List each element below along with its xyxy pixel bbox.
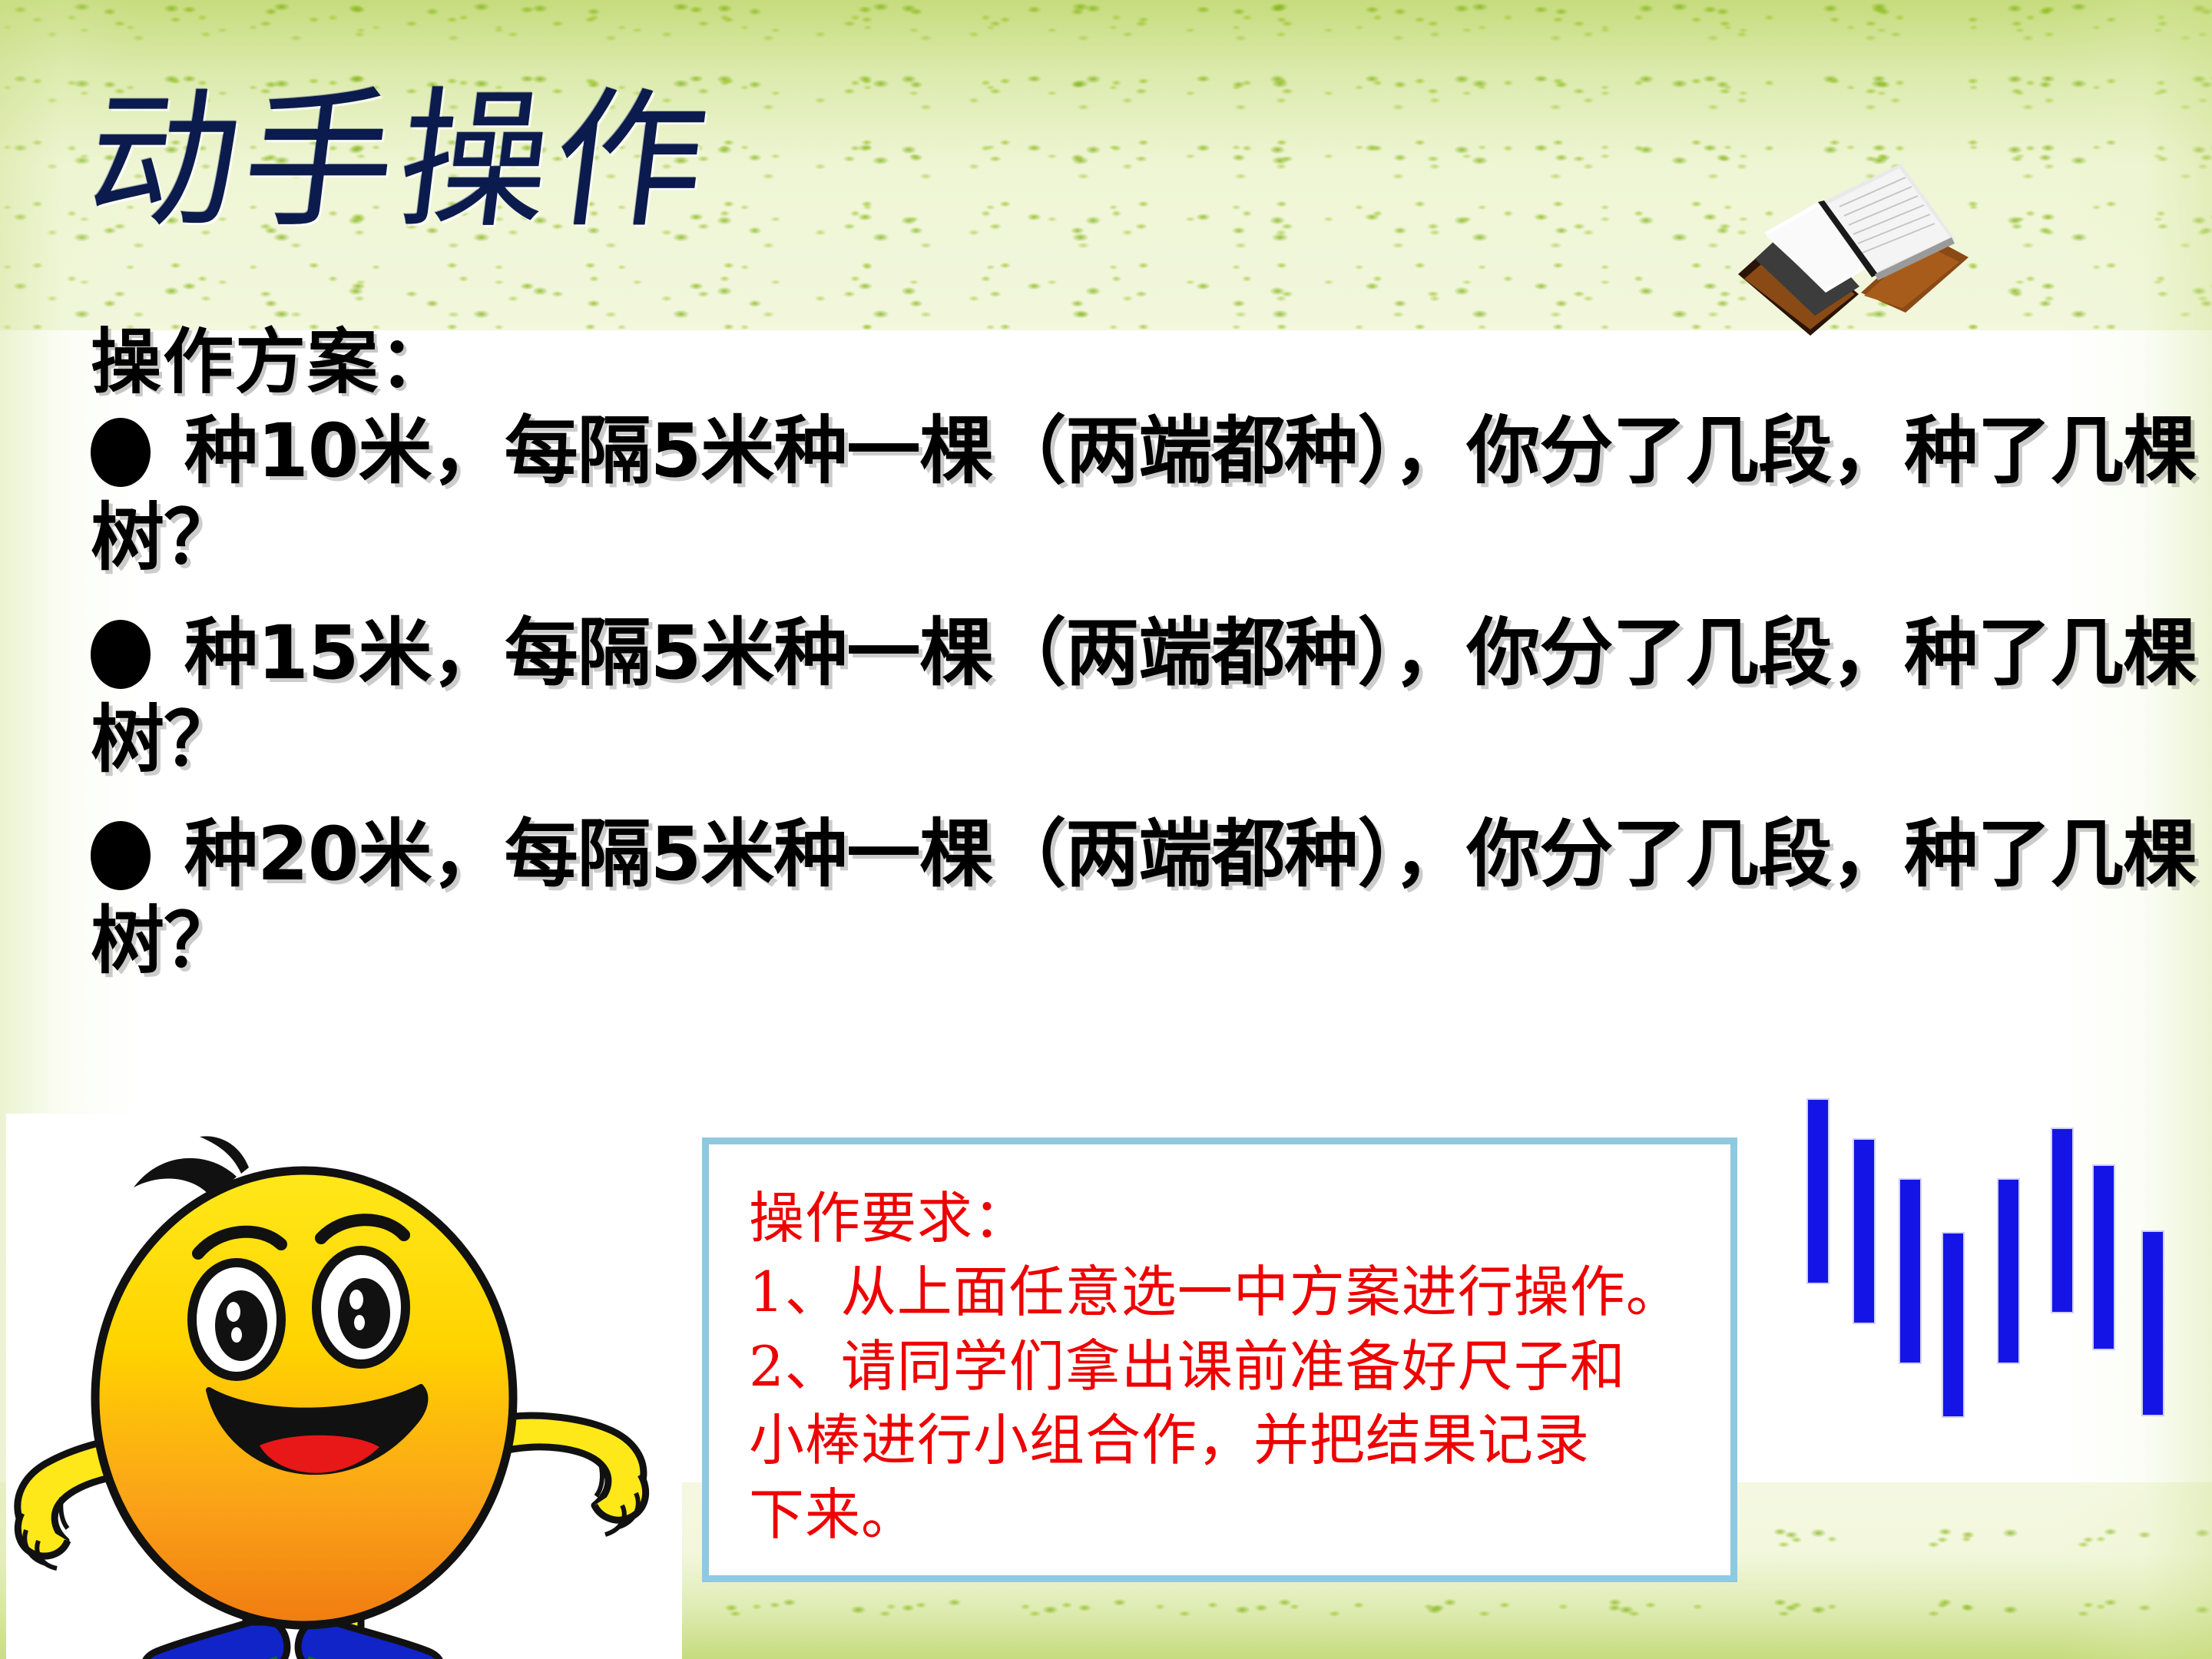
operation-requirements-box: 操作要求： 1、从上面任意选一中方案进行操作。 2、请同学们拿出课前准备好尺子和… [702,1137,1737,1582]
smiley-character-backdrop [6,1114,682,1659]
bullet-dot-icon [91,418,151,487]
stick-bar [2143,1232,2163,1415]
list-item: 种20米，每隔5米种一棵（两端都种），你分了几段，种了几棵树？ [91,811,2210,985]
stick-bar [1943,1233,1963,1416]
slide-title: 动手操作 [80,86,719,237]
scheme-text-block: 操作方案： 种10米，每隔5米种一棵（两端都种），你分了几段，种了几棵树？ 种1… [91,323,2210,1013]
requirements-heading: 操作要求： [749,1181,1707,1255]
list-item: 种15米，每隔5米种一棵（两端都种），你分了几段，种了几棵树？ [91,610,2210,784]
list-item-label: 种15米，每隔5米种一棵（两端都种），你分了几段，种了几棵树？ [91,610,2196,783]
scheme-heading: 操作方案： [91,323,2210,402]
smiley-character-icon [6,1114,682,1659]
list-item-label: 种20米，每隔5米种一棵（两端都种），你分了几段，种了几棵树？ [91,811,2196,984]
requirements-line: 小棒进行小组合作，并把结果记录 [749,1403,1707,1477]
stick-bar [1998,1180,2018,1363]
list-item-label: 种10米，每隔5米种一棵（两端都种），你分了几段，种了几棵树？ [91,408,2196,581]
stick-bar [1854,1140,1874,1323]
stick-bar [1900,1180,1920,1363]
blue-sticks-icon [1805,1075,2212,1505]
slide-canvas: 动手操作 [0,0,2212,1659]
stick-bar [1808,1100,1828,1283]
stick-bar [2052,1129,2072,1312]
requirements-line: 2、请同学们拿出课前准备好尺子和 [749,1330,1707,1403]
requirements-line: 1、从上面任意选一中方案进行操作。 [749,1255,1707,1329]
bullet-dot-icon [91,620,151,689]
list-item: 种10米，每隔5米种一棵（两端都种），你分了几段，种了几棵树？ [91,408,2210,582]
bullet-dot-icon [91,821,151,890]
requirements-line: 下来。 [749,1478,1707,1551]
stick-bar [2094,1166,2114,1349]
